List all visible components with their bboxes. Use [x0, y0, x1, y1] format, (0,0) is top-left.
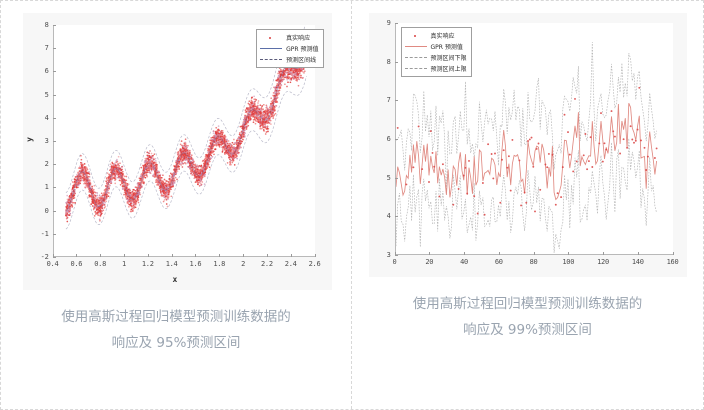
legend-label: 预测区间上限	[431, 64, 467, 73]
x-tick-label: 120	[597, 258, 609, 266]
x-tick-label: 0.4	[47, 260, 59, 268]
y-tick-label: 5	[27, 91, 49, 99]
legend-label: 预测区间下限	[431, 53, 467, 62]
legend-item: 预测区间线	[260, 55, 318, 64]
y-tick-label: 6	[27, 67, 49, 75]
x-tick-label: 140	[632, 258, 644, 266]
y-tick	[53, 118, 56, 119]
y-tick-label: 8	[27, 21, 49, 29]
y-tick-label: 4	[27, 114, 49, 122]
x-axis-title-left: x	[173, 275, 178, 284]
chart-figure-right: 0204060801001201401603456789 真实响应 GPR 预测…	[369, 13, 687, 277]
x-tick	[499, 252, 500, 255]
y-tick	[53, 187, 56, 188]
legend-item: 预测区间上限	[405, 64, 467, 73]
x-tick-label: 2.2	[261, 260, 273, 268]
x-tick-label: 0.8	[94, 260, 106, 268]
caption-line-1: 使用高斯过程回归模型预测训练数据的	[389, 291, 667, 317]
dot-marker-icon	[405, 32, 427, 40]
solid-line-icon	[405, 43, 427, 51]
y-tick	[53, 211, 56, 212]
y-tick-label: 1	[27, 183, 49, 191]
y-tick-label: 7	[369, 96, 391, 104]
legend-label: 预测区间线	[286, 55, 316, 64]
y-tick-label: 6	[369, 135, 391, 143]
y-tick	[395, 62, 398, 63]
dotted-line-icon	[405, 65, 427, 73]
y-tick	[53, 71, 56, 72]
x-tick	[195, 254, 196, 257]
caption-left: 使用高斯过程回归模型预测训练数据的 响应及 95%预测区间	[40, 304, 312, 356]
legend-item: 真实响应	[405, 31, 467, 40]
legend-label: GPR 预测值	[286, 44, 318, 53]
y-tick	[53, 25, 56, 26]
x-tick	[219, 254, 220, 257]
x-tick	[100, 254, 101, 257]
y-tick-label: 5	[369, 174, 391, 182]
x-tick-label: 1.4	[166, 260, 178, 268]
legend-label: 真实响应	[431, 31, 455, 40]
x-tick	[603, 252, 604, 255]
x-tick	[148, 254, 149, 257]
x-tick	[315, 254, 316, 257]
x-tick	[568, 252, 569, 255]
panel-container: 0.40.60.811.21.41.61.822.22.42.6-2-10123…	[1, 1, 703, 409]
legend-item: 预测区间下限	[405, 53, 467, 62]
caption-right: 使用高斯过程回归模型预测训练数据的 响应及 99%预测区间	[389, 291, 667, 343]
x-tick-label: 20	[425, 258, 433, 266]
legend-label: 真实响应	[286, 33, 310, 42]
x-tick	[291, 254, 292, 257]
legend-item: GPR 预测值	[260, 44, 318, 53]
x-tick-label: 80	[530, 258, 538, 266]
y-tick-label: -1	[27, 230, 49, 238]
y-tick-label: 9	[369, 19, 391, 27]
x-tick-label: 2.4	[285, 260, 297, 268]
y-tick	[53, 141, 56, 142]
y-axis-title-left: y	[24, 137, 33, 142]
legend-left: 真实响应 GPR 预测值 预测区间线	[256, 29, 323, 68]
x-tick-label: 100	[562, 258, 574, 266]
solid-line-icon	[260, 45, 282, 53]
x-tick	[76, 254, 77, 257]
panel-left: 0.40.60.811.21.41.61.822.22.42.6-2-10123…	[1, 1, 352, 409]
y-tick-label: 3	[369, 251, 391, 259]
x-tick	[243, 254, 244, 257]
x-tick	[673, 252, 674, 255]
dot-marker-icon	[260, 34, 282, 42]
x-tick-label: 1.8	[213, 260, 225, 268]
x-tick-label: 40	[460, 258, 468, 266]
x-tick	[429, 252, 430, 255]
caption-line-2: 响应及 95%预测区间	[40, 330, 312, 356]
x-tick-label: 160	[667, 258, 679, 266]
x-tick-label: 1.6	[190, 260, 202, 268]
x-tick	[267, 254, 268, 257]
y-tick	[53, 234, 56, 235]
legend-item: 真实响应	[260, 33, 318, 42]
legend-item: GPR 预测值	[405, 42, 467, 51]
x-tick-label: 0.6	[70, 260, 82, 268]
y-tick-label: -2	[27, 253, 49, 261]
y-tick	[395, 23, 398, 24]
y-tick	[53, 48, 56, 49]
x-tick	[464, 252, 465, 255]
x-tick	[638, 252, 639, 255]
chart-figure-left: 0.40.60.811.21.41.61.822.22.42.6-2-10123…	[23, 13, 332, 290]
y-tick	[53, 164, 56, 165]
x-tick	[124, 254, 125, 257]
y-tick	[395, 216, 398, 217]
caption-line-2: 响应及 99%预测区间	[389, 317, 667, 343]
y-tick-label: 0	[27, 207, 49, 215]
x-tick-label: 1.2	[142, 260, 154, 268]
x-tick-label: 2.6	[309, 260, 321, 268]
y-tick-label: 7	[27, 44, 49, 52]
y-tick-label: 2	[27, 160, 49, 168]
x-tick	[534, 252, 535, 255]
y-tick-label: 8	[369, 58, 391, 66]
y-tick	[395, 255, 398, 256]
x-tick-label: 0	[393, 258, 397, 266]
caption-line-1: 使用高斯过程回归模型预测训练数据的	[40, 304, 312, 330]
panel-right: 0204060801001201401603456789 真实响应 GPR 预测…	[352, 1, 703, 409]
legend-right: 真实响应 GPR 预测值 预测区间下限 预测区间上限	[401, 27, 472, 77]
dotted-line-icon	[405, 54, 427, 62]
y-tick-label: 4	[369, 212, 391, 220]
y-tick	[53, 95, 56, 96]
y-tick	[53, 257, 56, 258]
y-tick	[395, 100, 398, 101]
y-tick	[395, 139, 398, 140]
y-tick	[395, 178, 398, 179]
legend-label: GPR 预测值	[431, 42, 463, 51]
x-tick	[172, 254, 173, 257]
page-root: 0.40.60.811.21.41.61.822.22.42.6-2-10123…	[0, 0, 704, 410]
x-tick-label: 60	[495, 258, 503, 266]
dashed-line-icon	[260, 56, 282, 64]
x-tick-label: 1	[122, 260, 126, 268]
x-tick-label: 2	[241, 260, 245, 268]
